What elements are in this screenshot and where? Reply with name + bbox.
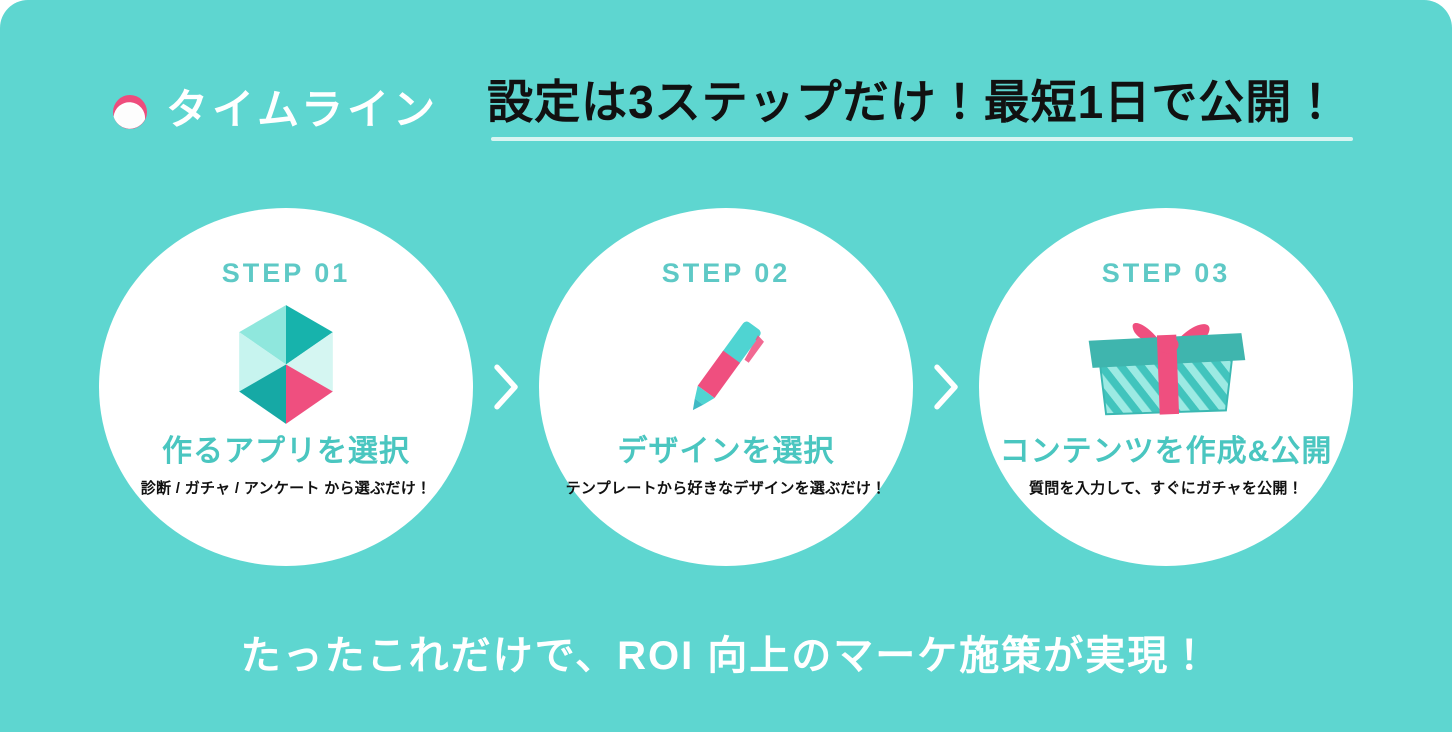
step-card-01[interactable]: STEP 01 作るアプリを選択 診断 / ガチャ / アンケート から選ぶだけ… — [99, 208, 473, 566]
step-kicker: STEP 02 — [662, 260, 791, 287]
step-card-03[interactable]: STEP 03 — [979, 208, 1353, 566]
step-kicker: STEP 03 — [1102, 260, 1231, 287]
timeline-panel: タイムライン 設定は3ステップだけ！最短1日で公開！ STEP 01 — [0, 0, 1452, 732]
gift-box-icon — [1079, 305, 1253, 423]
header-inner: タイムライン 設定は3ステップだけ！最短1日で公開！ — [112, 62, 1339, 158]
eyebrow-group: タイムライン — [112, 89, 439, 131]
page-title: 設定は3ステップだけ！最短1日で公開！ — [487, 79, 1339, 125]
step-card-02[interactable]: STEP 02 デザインを選択 テンプレートから好きなデ — [539, 208, 913, 566]
step-title: 作るアプリを選択 — [162, 437, 410, 467]
step-kicker: STEP 01 — [222, 260, 351, 287]
headline-wrap: 設定は3ステップだけ！最短1日で公開！ — [487, 79, 1339, 141]
pen-icon — [674, 305, 778, 423]
step-subtitle: 診断 / ガチャ / アンケート から選ぶだけ！ — [141, 481, 432, 496]
step-subtitle: テンプレートから好きなデザインを選ぶだけ！ — [566, 481, 887, 496]
step-subtitle: 質問を入力して、すぐにガチャを公開！ — [1029, 481, 1303, 496]
step-title: デザインを選択 — [618, 437, 835, 467]
tagline: たったこれだけで、ROI 向上のマーケ施策が実現！ — [0, 636, 1452, 676]
headline-underline — [491, 137, 1353, 141]
screen-root: タイムライン 設定は3ステップだけ！最短1日で公開！ STEP 01 — [0, 0, 1452, 732]
hexagon-app-icon — [232, 305, 340, 423]
chevron-right-icon — [473, 360, 539, 414]
header: タイムライン 設定は3ステップだけ！最短1日で公開！ — [0, 62, 1452, 158]
eyebrow-label: タイムライン — [166, 89, 439, 131]
steps-row: STEP 01 作るアプリを選択 診断 / ガチャ / アンケート から選ぶだけ… — [0, 207, 1452, 567]
chevron-right-icon — [913, 360, 979, 414]
half-circle-pink-icon — [112, 94, 148, 130]
step-title: コンテンツを作成&公開 — [1000, 437, 1333, 467]
